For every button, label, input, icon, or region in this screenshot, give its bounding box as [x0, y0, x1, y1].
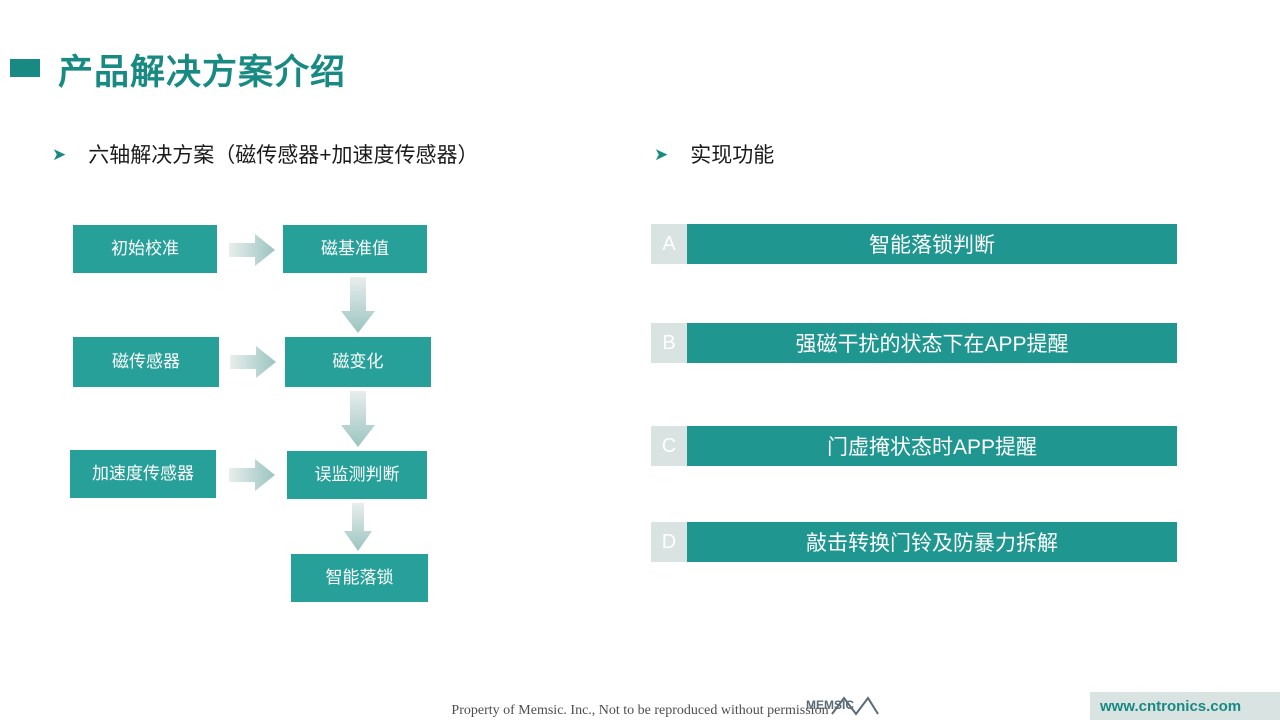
chevron-right-icon: ➤ — [654, 146, 668, 163]
arrow-down-icon — [344, 503, 372, 551]
feature-label-b: 强磁干扰的状态下在APP提醒 — [687, 323, 1177, 363]
feature-letter-d: D — [651, 522, 687, 562]
slide: 产品解决方案介绍 ➤ 六轴解决方案（磁传感器+加速度传感器） ➤ 实现功能 初始… — [0, 0, 1280, 720]
memsic-mark-icon — [830, 694, 880, 716]
section-heading-right: ➤ 实现功能 — [654, 139, 774, 169]
arrow-right-icon — [229, 459, 275, 491]
flow-node-magnetic-sensor: 磁传感器 — [73, 337, 219, 387]
feature-row-b: B 强磁干扰的状态下在APP提醒 — [651, 323, 1177, 363]
arrow-down-icon — [341, 277, 375, 333]
footer-url[interactable]: www.cntronics.com — [1100, 698, 1241, 715]
page-title: 产品解决方案介绍 — [58, 44, 346, 95]
section-heading-left-label: 六轴解决方案（磁传感器+加速度传感器） — [88, 139, 478, 169]
feature-label-a: 智能落锁判断 — [687, 224, 1177, 264]
title-bullet-icon — [10, 59, 40, 77]
feature-label-d: 敲击转换门铃及防暴力拆解 — [687, 522, 1177, 562]
flow-node-smart-lock: 智能落锁 — [291, 554, 428, 602]
feature-letter-c: C — [651, 426, 687, 466]
arrow-down-icon — [341, 391, 375, 447]
feature-row-c: C 门虚掩状态时APP提醒 — [651, 426, 1177, 466]
arrow-right-icon — [230, 346, 276, 378]
feature-letter-a: A — [651, 224, 687, 264]
flow-node-magnetic-change: 磁变化 — [285, 337, 431, 387]
flow-node-initial-calibration: 初始校准 — [73, 225, 217, 273]
flow-node-false-detection: 误监测判断 — [287, 451, 427, 499]
feature-row-a: A 智能落锁判断 — [651, 224, 1177, 264]
flow-node-magnetic-baseline: 磁基准值 — [283, 225, 427, 273]
footer-notice: Property of Memsic. Inc., Not to be repr… — [0, 703, 1280, 719]
feature-label-c: 门虚掩状态时APP提醒 — [687, 426, 1177, 466]
feature-letter-b: B — [651, 323, 687, 363]
feature-row-d: D 敲击转换门铃及防暴力拆解 — [651, 522, 1177, 562]
arrow-right-icon — [229, 234, 275, 266]
flow-node-accelerometer: 加速度传感器 — [70, 450, 216, 498]
section-heading-left: ➤ 六轴解决方案（磁传感器+加速度传感器） — [52, 139, 479, 169]
chevron-right-icon: ➤ — [52, 146, 66, 163]
section-heading-right-label: 实现功能 — [690, 139, 774, 169]
